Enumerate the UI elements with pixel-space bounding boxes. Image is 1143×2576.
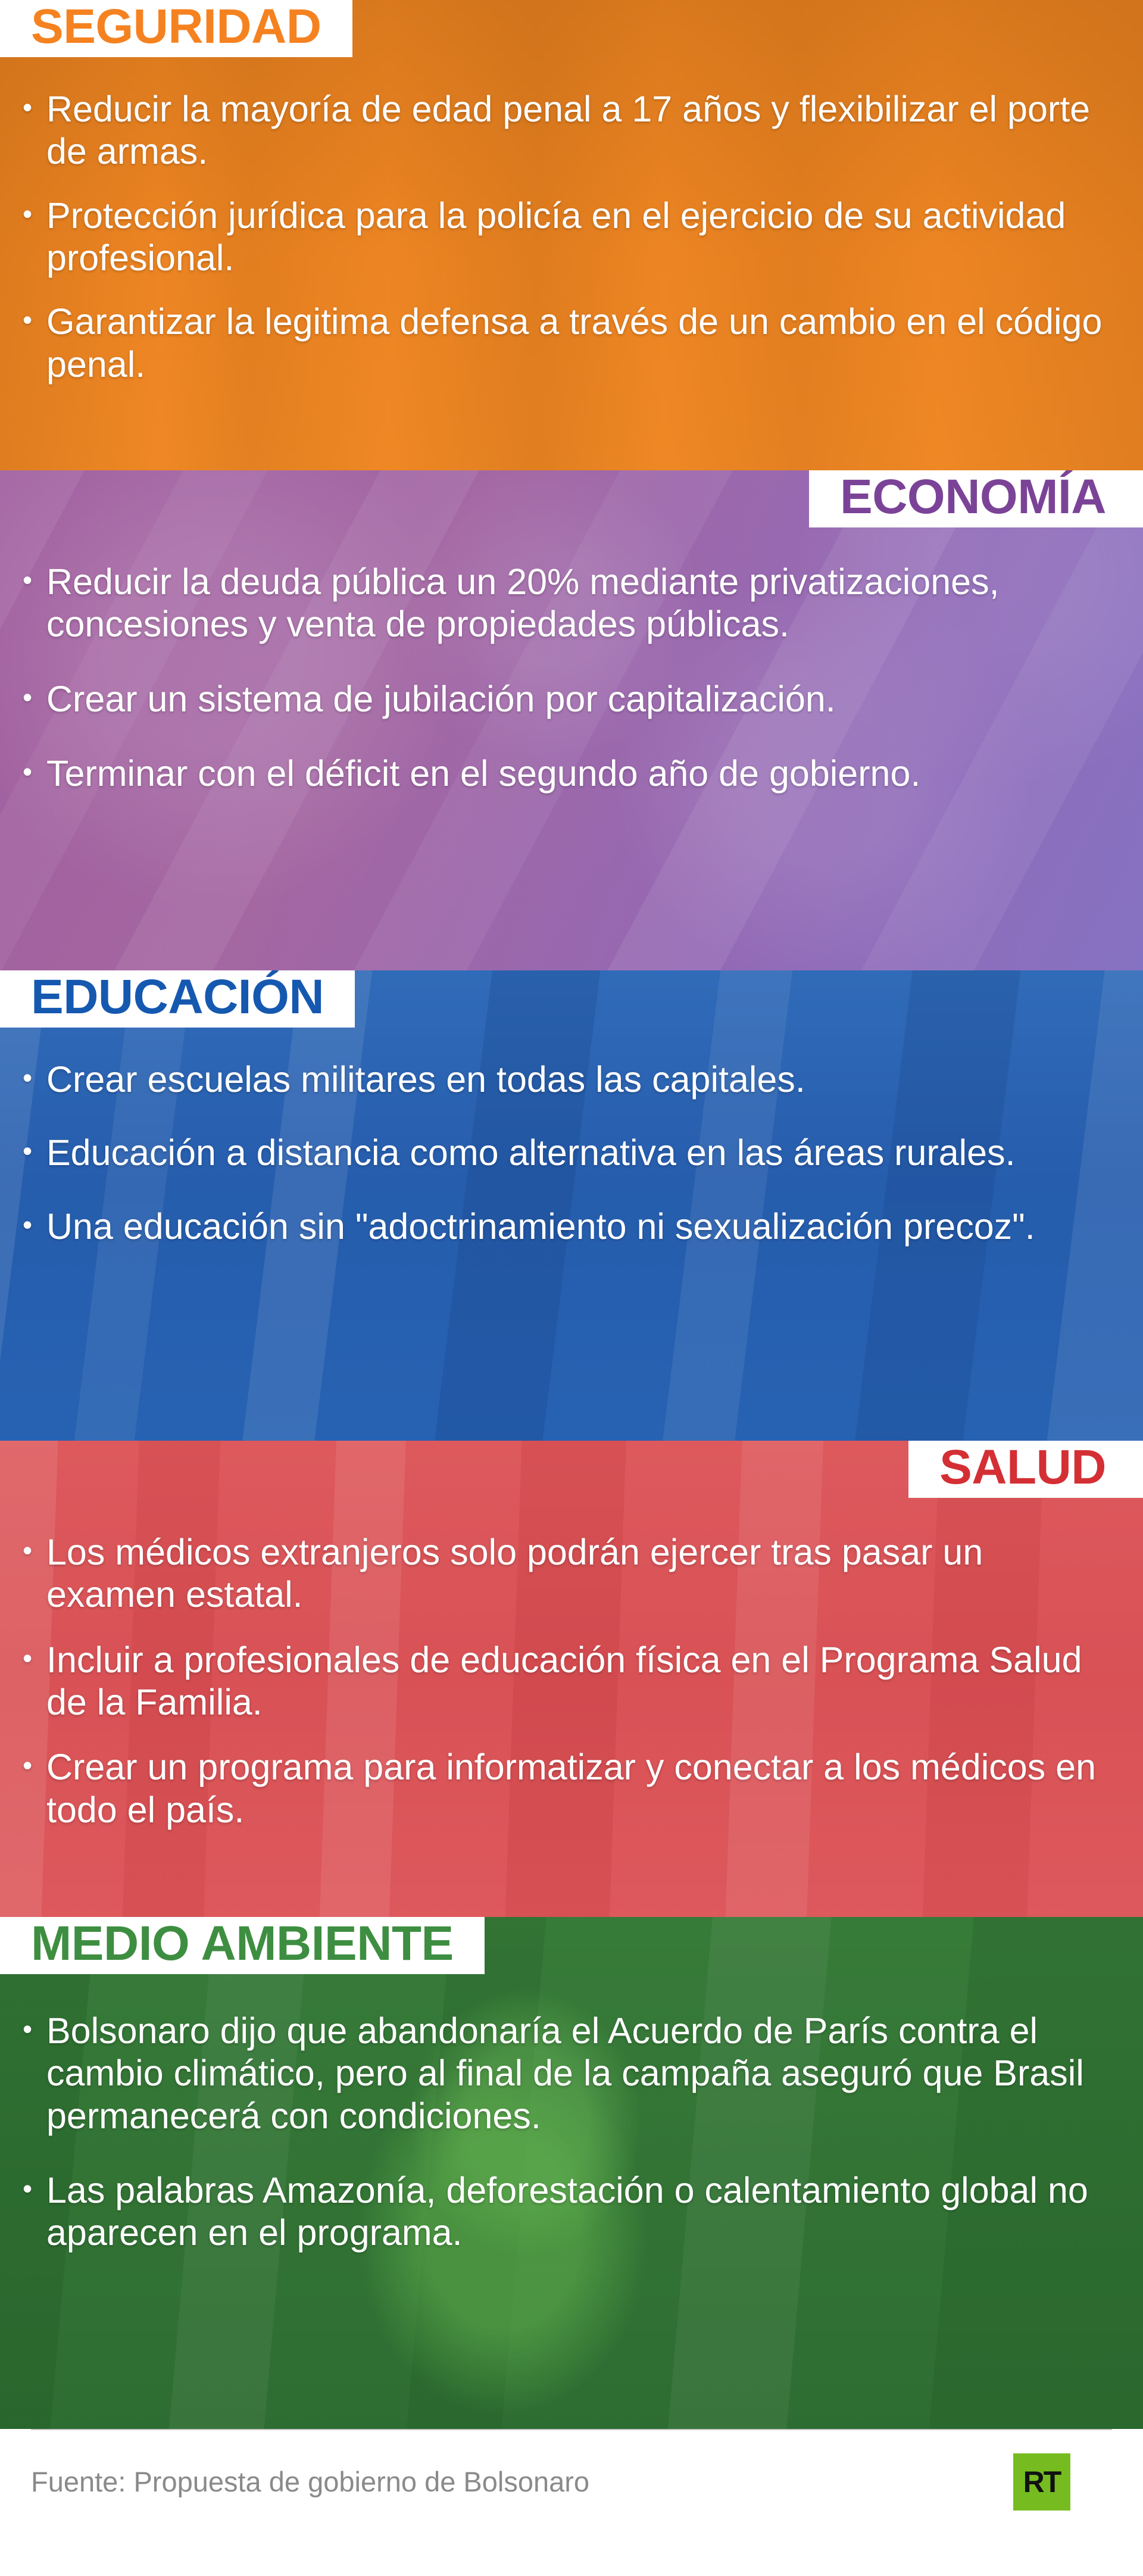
list-item: Una educación sin "adoctrinamiento ni se… xyxy=(23,1206,1116,1248)
list-item: Los médicos extranjeros solo podrán ejer… xyxy=(23,1531,1116,1616)
salud-bullet-list: Los médicos extranjeros solo podrán ejer… xyxy=(0,1498,1143,1874)
seguridad-header-band: SEGURIDAD xyxy=(0,0,1143,57)
ambiente-bullet-list: Bolsonaro dijo que abandonaría el Acuerd… xyxy=(0,1974,1143,2310)
section-medio-ambiente: MEDIO AMBIENTE Bolsonaro dijo que abando… xyxy=(0,1917,1143,2429)
section-title-educacion: EDUCACIÓN xyxy=(31,973,324,1022)
rt-logo-text: RT xyxy=(1023,2467,1061,2497)
list-item: Crear escuelas militares en todas las ca… xyxy=(23,1058,1116,1101)
list-item: Crear un sistema de jubilación por capit… xyxy=(23,678,1116,720)
economia-header-band: ECONOMÍA xyxy=(0,470,1143,527)
list-item: Crear un programa para informatizar y co… xyxy=(23,1746,1116,1831)
educacion-header-box: EDUCACIÓN xyxy=(0,970,355,1028)
section-salud: SALUD Los médicos extranjeros solo podrá… xyxy=(0,1441,1143,1917)
seguridad-bullet-list: Reducir la mayoría de edad penal a 17 añ… xyxy=(0,57,1143,425)
list-item: Reducir la mayoría de edad penal a 17 añ… xyxy=(23,88,1116,173)
section-title-medio-ambiente: MEDIO AMBIENTE xyxy=(31,1919,454,1968)
section-title-economia: ECONOMÍA xyxy=(840,473,1106,522)
salud-header-band: SALUD xyxy=(0,1441,1143,1498)
economia-header-box: ECONOMÍA xyxy=(809,470,1143,527)
ambiente-header-band: MEDIO AMBIENTE xyxy=(0,1917,1143,1974)
educacion-header-band: EDUCACIÓN xyxy=(0,970,1143,1028)
section-title-seguridad: SEGURIDAD xyxy=(31,2,321,51)
ambiente-header-box: MEDIO AMBIENTE xyxy=(0,1917,485,1974)
educacion-bullet-list: Crear escuelas militares en todas las ca… xyxy=(0,1028,1143,1299)
list-item: Garantizar la legitima defensa a través … xyxy=(23,301,1116,386)
list-item: Incluir a profesionales de educación fís… xyxy=(23,1639,1116,1724)
list-item: Educación a distancia como alternativa e… xyxy=(23,1132,1116,1174)
footer: Fuente: Propuesta de gobierno de Bolsona… xyxy=(0,2429,1143,2534)
salud-header-box: SALUD xyxy=(908,1441,1143,1498)
list-item: Las palabras Amazonía, deforestación o c… xyxy=(23,2169,1116,2255)
section-seguridad: SEGURIDAD Reducir la mayoría de edad pen… xyxy=(0,0,1143,470)
section-economia: ECONOMÍA Reducir la deuda pública un 20%… xyxy=(0,470,1143,970)
list-item: Terminar con el déficit en el segundo añ… xyxy=(23,752,1116,795)
seguridad-header-box: SEGURIDAD xyxy=(0,0,352,57)
list-item: Protección jurídica para la policía en e… xyxy=(23,195,1116,280)
source-label: Fuente: Propuesta de gobierno de Bolsona… xyxy=(31,2465,589,2498)
section-educacion: EDUCACIÓN Crear escuelas militares en to… xyxy=(0,970,1143,1441)
list-item: Bolsonaro dijo que abandonaría el Acuerd… xyxy=(23,2010,1116,2137)
rt-logo: RT xyxy=(1013,2453,1070,2511)
economia-bullet-list: Reducir la deuda pública un 20% mediante… xyxy=(0,527,1143,847)
list-item: Reducir la deuda pública un 20% mediante… xyxy=(23,561,1116,646)
infographic-root: SEGURIDAD Reducir la mayoría de edad pen… xyxy=(0,0,1143,2576)
section-title-salud: SALUD xyxy=(939,1443,1106,1492)
